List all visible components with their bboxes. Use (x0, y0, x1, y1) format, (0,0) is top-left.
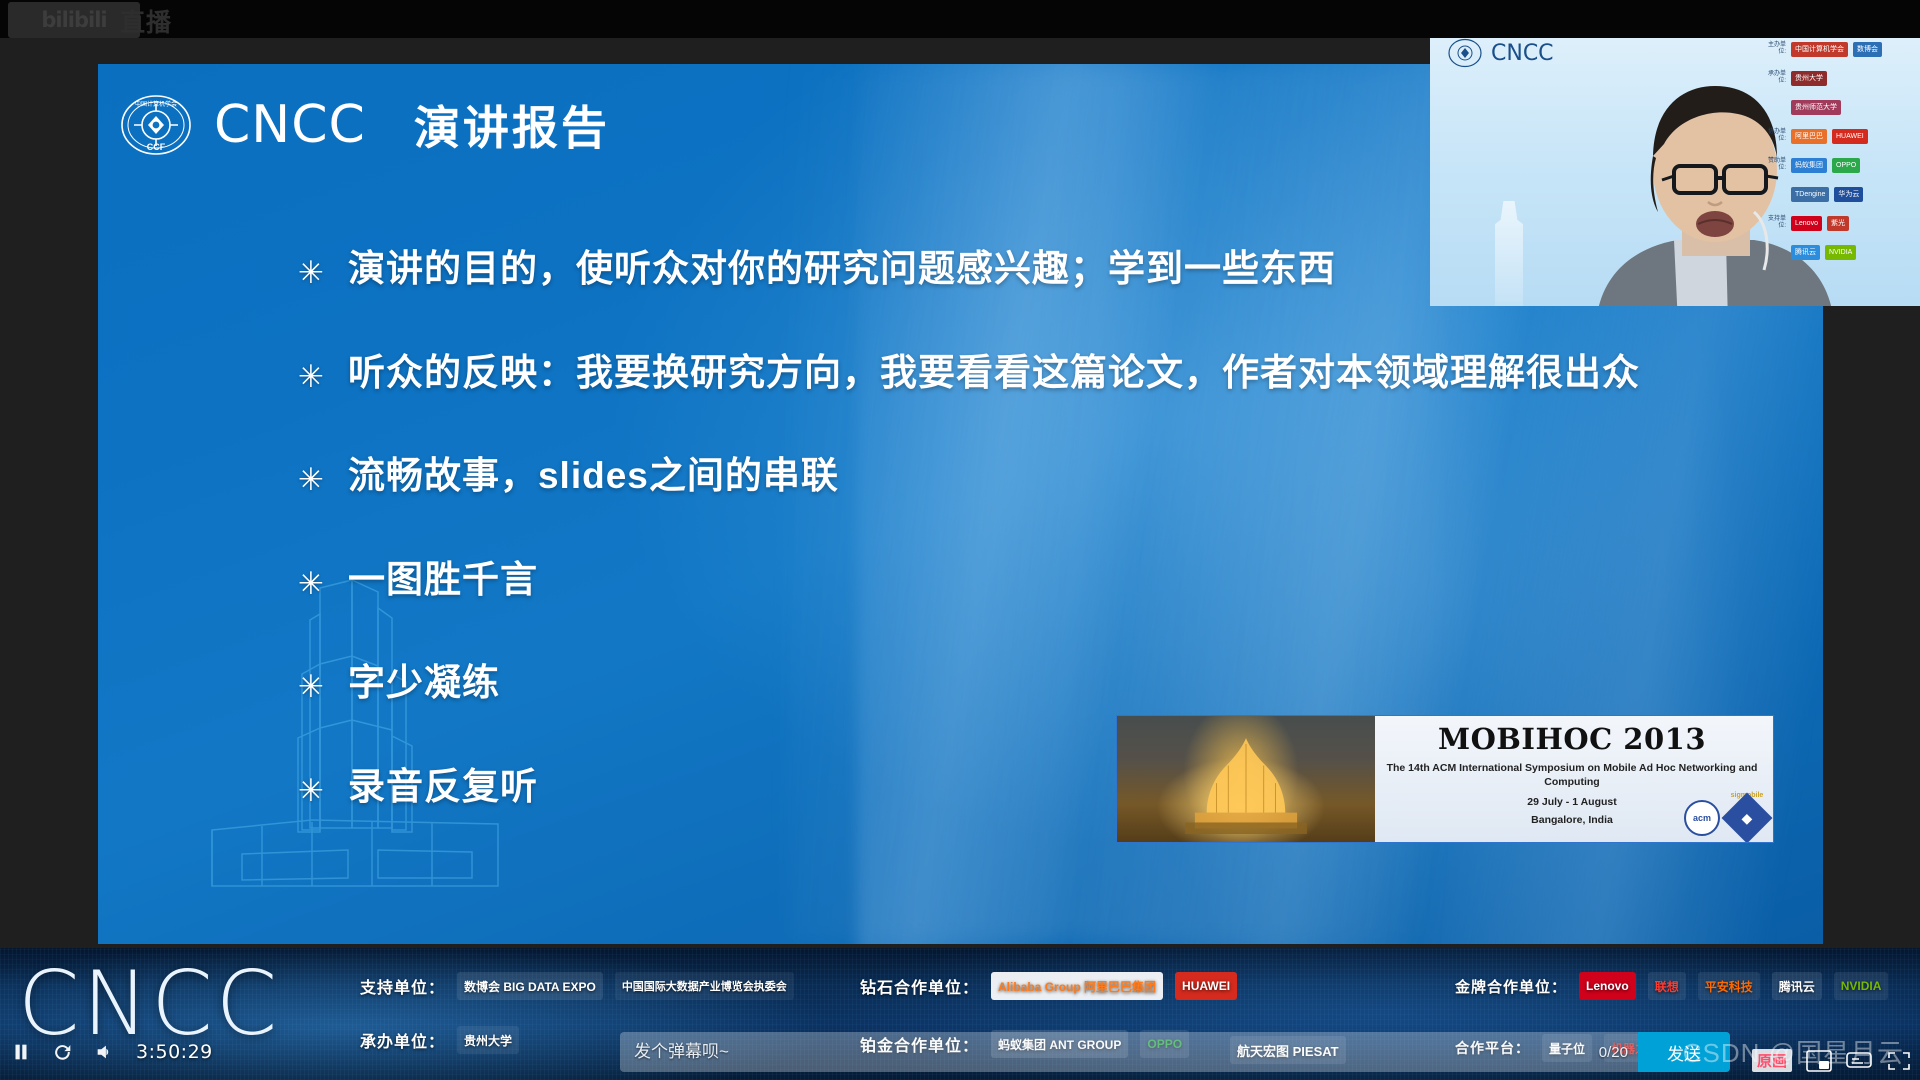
pip-brand-group: CNCC (1448, 38, 1554, 68)
pip-sponsor-logo: Lenovo (1791, 216, 1822, 231)
bullet-item: ✳ 字少凝练 (298, 662, 1783, 705)
pause-icon[interactable] (0, 1031, 42, 1073)
pip-sponsor-logo: 数博会 (1853, 42, 1882, 57)
mobihoc-venue-photo (1117, 716, 1375, 842)
csdn-watermark: CSDN @国星月云 (1683, 1033, 1904, 1070)
platform-top-bar: bilibili 直播 (0, 0, 1920, 38)
danmaku-input[interactable] (620, 1032, 1599, 1072)
pip-sponsor-row: 赞助单位: 蚂蚁集团 OPPO (1764, 154, 1914, 176)
bullet-text: 听众的反映：我要换研究方向，我要看看这篇论文，作者对本领域理解很出众 (348, 352, 1640, 395)
mobihoc-logo-group: acm sigmobile ◆ (1684, 792, 1765, 836)
bullet-marker-icon: ✳ (298, 464, 324, 495)
sponsor-logo: 中国国际大数据产业博览会执委会 (615, 972, 794, 1000)
pip-sponsor-row: 腾讯云 NVIDIA (1764, 241, 1914, 263)
pip-sponsor-logo: 紫光 (1827, 216, 1849, 231)
bullet-item: ✳ 一图胜千言 (298, 559, 1783, 602)
danmaku-input-bar[interactable]: 0/20 发送 (620, 1032, 1730, 1072)
sponsor-group-support: 支持单位： 数博会 BIG DATA EXPO 中国国际大数据产业博览会执委会 (360, 972, 794, 1000)
sponsor-group-diamond: 钻石合作单位： Alibaba Group 阿里巴巴集团 HUAWEI (860, 972, 1237, 1000)
sponsor-group-label: 金牌合作单位： (1455, 976, 1567, 997)
ccf-emblem-icon: 中国计算机学会 CCF (120, 94, 192, 156)
pip-sponsor-logo: NVIDIA (1825, 245, 1856, 260)
sponsor-group-label: 支持单位： (360, 974, 445, 998)
pip-sponsor-logo: HUAWEI (1832, 129, 1868, 144)
bullet-marker-icon: ✳ (298, 775, 324, 806)
mobihoc-title: MOBIHOC 2013 (1381, 722, 1763, 756)
pip-sponsor-logo: 贵州师范大学 (1791, 100, 1841, 115)
pip-sponsor-logo: TDengine (1791, 187, 1829, 202)
slide-header: 中国计算机学会 CCF CNCC 演讲报告 (120, 92, 610, 158)
pip-sponsor-logo: 中国计算机学会 (1791, 42, 1848, 57)
pip-sponsor-label: 赞助单位: (1764, 158, 1786, 171)
danmaku-char-count: 0/20 (1599, 1044, 1638, 1061)
pip-sponsor-logo: 阿里巴巴 (1791, 129, 1827, 144)
elapsed-time: 3:50:29 (136, 1041, 213, 1063)
acm-logo-icon: acm (1684, 800, 1720, 836)
ccf-emblem-icon (1448, 38, 1482, 68)
sponsor-logo: 数博会 BIG DATA EXPO (457, 972, 603, 1000)
refresh-icon[interactable] (42, 1031, 84, 1073)
bullet-marker-icon: ✳ (298, 568, 324, 599)
mobihoc-subtitle: The 14th ACM International Symposium on … (1381, 761, 1763, 789)
sponsor-logo: 平安科技 (1698, 972, 1760, 1000)
bullet-item: ✳ 听众的反映：我要换研究方向，我要看看这篇论文，作者对本领域理解很出众 (298, 352, 1783, 395)
volume-icon[interactable] (84, 1031, 126, 1073)
pip-sponsor-label: 承办单位: (1764, 71, 1786, 84)
bullet-marker-icon: ✳ (298, 671, 324, 702)
pip-sponsor-logo: 华为云 (1834, 187, 1863, 202)
pip-sponsor-label: 支持单位: (1764, 216, 1786, 229)
sponsor-logo: Lenovo (1579, 972, 1636, 1000)
mobihoc-banner: MOBIHOC 2013 The 14th ACM International … (1116, 715, 1774, 843)
sponsor-logo: 联想 (1648, 972, 1686, 1000)
pip-brand-text: CNCC (1491, 41, 1554, 66)
pip-sponsor-row: 承办单位: 贵州大学 (1764, 67, 1914, 89)
bullet-item: ✳ 流畅故事，slides之间的串联 (298, 455, 1783, 498)
bullet-text: 一图胜千言 (348, 559, 538, 602)
pip-sponsor-logo-list: 主办单位: 中国计算机学会 数博会 承办单位: 贵州大学 贵州师范大学 协办单位… (1764, 38, 1914, 263)
live-stream-page: bilibili 直播 (0, 0, 1920, 1080)
pip-sponsor-row: 贵州师范大学 (1764, 96, 1914, 118)
pip-sponsor-label: 主办单位: (1764, 42, 1786, 55)
mobihoc-text-block: MOBIHOC 2013 The 14th ACM International … (1375, 716, 1773, 842)
sigmobile-logo-wrap: sigmobile ◆ (1729, 792, 1765, 836)
svg-text:CCF: CCF (147, 142, 166, 152)
bullet-marker-icon: ✳ (298, 257, 324, 288)
cncc-brand-text: CNCC (214, 95, 366, 155)
sponsor-logo: NVIDIA (1834, 972, 1889, 1000)
pip-sponsor-logo: OPPO (1832, 158, 1860, 173)
bullet-marker-icon: ✳ (298, 361, 324, 392)
sponsor-logo: 腾讯云 (1772, 972, 1822, 1000)
pip-sponsor-logo: 贵州大学 (1791, 71, 1827, 86)
sponsor-logo: Alibaba Group 阿里巴巴集团 (991, 972, 1163, 1000)
pip-sponsor-row: 协办单位: 阿里巴巴 HUAWEI (1764, 125, 1914, 147)
pip-tower-decoration (1474, 201, 1544, 306)
bullet-text: 流畅故事，slides之间的串联 (348, 455, 839, 498)
svg-text:中国计算机学会: 中国计算机学会 (135, 100, 177, 108)
pip-sponsor-row: 支持单位: Lenovo 紫光 (1764, 212, 1914, 234)
pip-sponsor-row: TDengine 华为云 (1764, 183, 1914, 205)
sponsor-group-gold: 金牌合作单位： Lenovo 联想 平安科技 腾讯云 NVIDIA (1455, 972, 1888, 1000)
pip-sponsor-label: 协办单位: (1764, 129, 1786, 142)
speaker-webcam-pip[interactable]: CNCC 主办单位: 中国计算 (1430, 28, 1920, 306)
bullet-text: 录音反复听 (348, 766, 538, 809)
pip-sponsor-logo: 腾讯云 (1791, 245, 1820, 260)
bullet-text: 演讲的目的，使听众对你的研究问题感兴趣；学到一些东西 (348, 248, 1336, 291)
video-stage[interactable]: 中国计算机学会 CCF CNCC 演讲报告 ✳ 演讲的目的，使听众对你的研究问题… (0, 28, 1920, 948)
bilibili-logo-text: bilibili (41, 8, 106, 32)
sigmobile-logo-icon: ◆ (1722, 793, 1773, 843)
pip-sponsor-logo: 蚂蚁集团 (1791, 158, 1827, 173)
sponsor-logo: HUAWEI (1175, 972, 1237, 1000)
platform-suffix-label: 直播 (120, 3, 172, 39)
pip-sponsor-row: 主办单位: 中国计算机学会 数博会 (1764, 38, 1914, 60)
sponsor-group-label: 钻石合作单位： (860, 974, 979, 998)
bullet-text: 字少凝练 (348, 662, 500, 705)
slide-title: 演讲报告 (414, 92, 610, 158)
